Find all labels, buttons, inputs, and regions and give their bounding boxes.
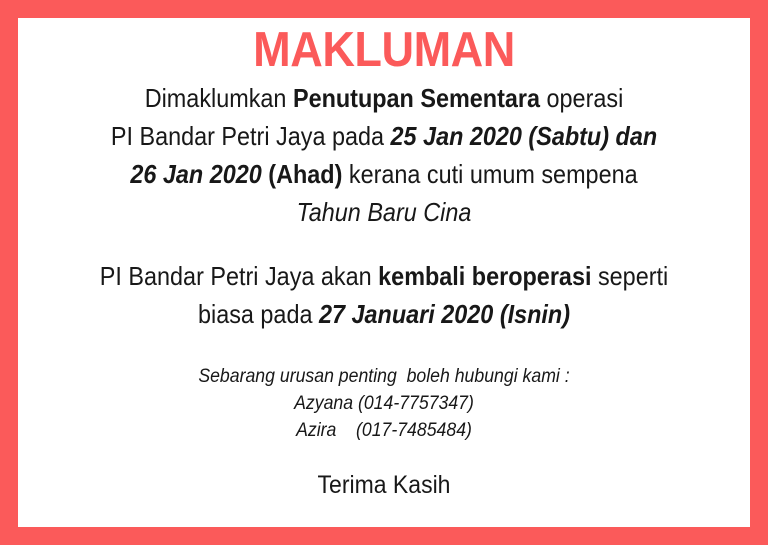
title-block: MAKLUMAN [18,18,750,78]
paragraph-spacer-1 [18,231,750,257]
page-title: MAKLUMAN [47,22,720,78]
reopen-line-1-text-b: seperti [591,261,668,291]
closure-line-1-text-b: operasi [540,83,623,113]
reopen-line-1-bold: kembali beroperasi [378,261,591,291]
contact-person-azira: Azira (017-7485484) [44,417,725,444]
closure-line-3-date: 26 Jan 2020 [130,159,261,189]
paragraph-spacer-2 [18,333,750,363]
contact-intro: Sebarang urusan penting boleh hubungi ka… [44,363,725,390]
closure-line-1: Dimaklumkan Penutupan Sementara operasi [55,79,714,117]
closure-line-3-text: kerana cuti umum sempena [342,159,637,189]
paragraph-spacer-3 [18,444,750,470]
reopen-line-2-date: 27 Januari 2020 (Isnin) [319,299,570,329]
reopen-line-2-text: biasa pada [198,299,319,329]
closing-block: Terima Kasih [18,470,750,500]
closure-line-4: Tahun Baru Cina [55,193,714,231]
reopen-line-2: biasa pada 27 Januari 2020 (Isnin) [55,295,714,333]
reopen-line-1: PI Bandar Petri Jaya akan kembali berope… [55,257,714,295]
notice-inner-panel: MAKLUMAN Dimaklumkan Penutupan Sementara… [18,18,750,527]
notice-card: MAKLUMAN Dimaklumkan Penutupan Sementara… [0,0,768,545]
closure-line-3: 26 Jan 2020 (Ahad) kerana cuti umum semp… [55,155,714,193]
closure-line-2-dates: 25 Jan 2020 (Sabtu) dan [391,121,658,151]
closure-line-2: PI Bandar Petri Jaya pada 25 Jan 2020 (S… [55,117,714,155]
reopen-paragraph: PI Bandar Petri Jaya akan kembali berope… [18,257,750,333]
closing-message: Terima Kasih [47,470,720,500]
reopen-line-1-text-a: PI Bandar Petri Jaya akan [100,261,378,291]
contact-person-azyana: Azyana (014-7757347) [44,390,725,417]
closure-paragraph: Dimaklumkan Penutupan Sementara operasi … [18,78,750,231]
closure-line-1-text-a: Dimaklumkan [145,83,293,113]
closure-line-2-text-a: PI Bandar Petri Jaya pada [111,121,391,151]
closure-line-1-bold: Penutupan Sementara [293,83,540,113]
contact-block: Sebarang urusan penting boleh hubungi ka… [18,363,750,444]
closure-line-4-occasion: Tahun Baru Cina [297,197,472,227]
closure-line-3-day: (Ahad) [262,159,343,189]
